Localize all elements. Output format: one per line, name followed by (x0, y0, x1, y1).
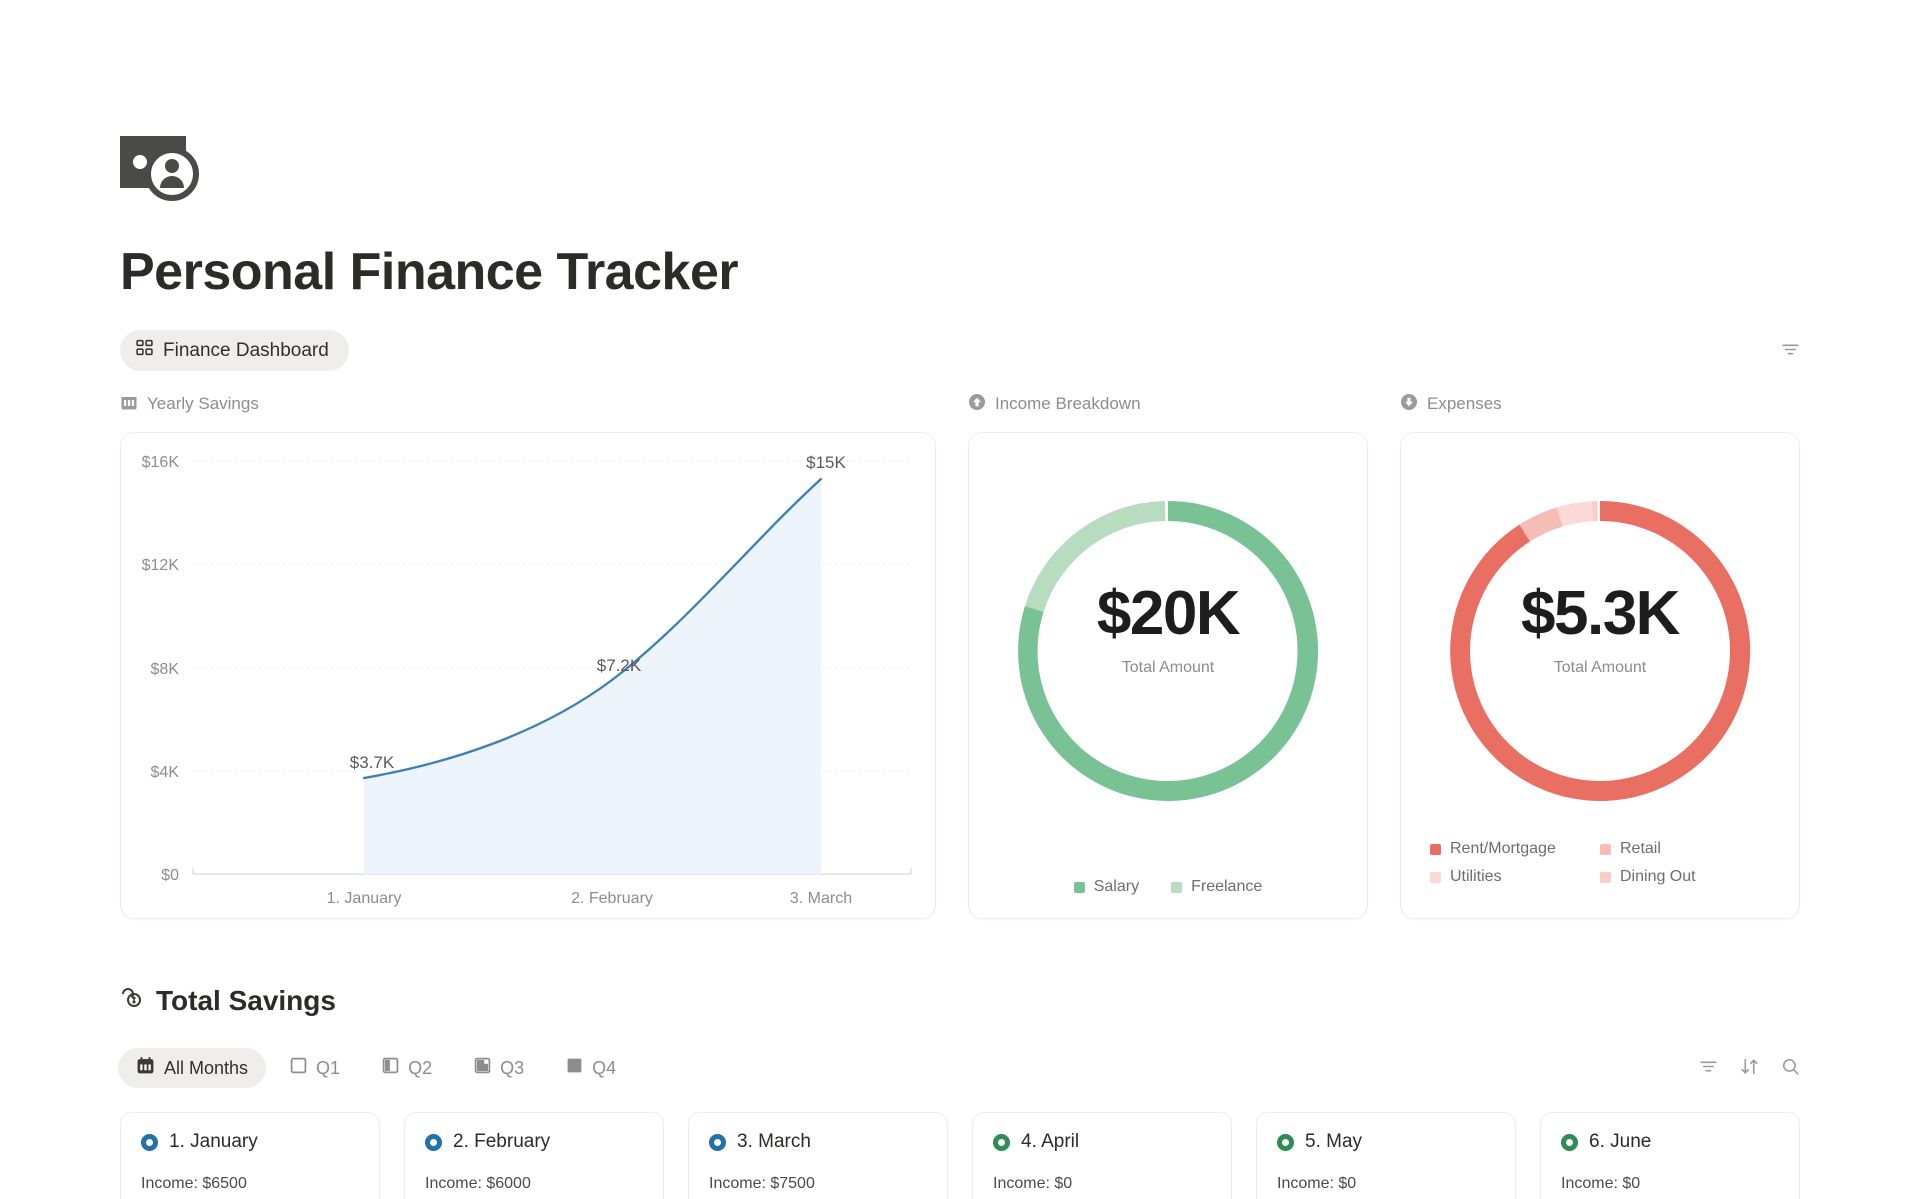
quarter-4-icon (566, 1057, 583, 1079)
legend-swatch (1430, 844, 1441, 855)
legend-item: Dining Out (1600, 868, 1770, 886)
legend-label: Utilities (1450, 868, 1502, 886)
month-card-february[interactable]: 2. February Income: $6000 (404, 1112, 664, 1199)
section-title-label: Total Savings (156, 985, 336, 1017)
panel-title: Income Breakdown (995, 394, 1141, 414)
legend-label: Rent/Mortgage (1450, 840, 1556, 858)
status-ring-icon (1561, 1134, 1578, 1151)
panel-title: Yearly Savings (147, 394, 259, 414)
month-income: Income: $7500 (709, 1175, 927, 1193)
legend-item: Freelance (1171, 878, 1262, 896)
tab-label: Q3 (500, 1058, 524, 1079)
calendar-icon (136, 1056, 155, 1080)
total-savings-title: Total Savings (120, 985, 336, 1017)
top-toolbar (1781, 340, 1800, 359)
legend-label: Salary (1094, 878, 1139, 896)
panel-income-breakdown: Income Breakdown $20K Total Amount (968, 392, 1368, 919)
svg-text:$7.2K: $7.2K (597, 656, 642, 675)
month-name: 5. May (1305, 1131, 1362, 1153)
tab-label: Q2 (408, 1058, 432, 1079)
expenses-donut-card: $5.3K Total Amount Rent/Mortgage Retail … (1400, 432, 1800, 919)
arrow-up-circle-icon (968, 393, 986, 416)
month-card-january[interactable]: 1. January Income: $6500 (120, 1112, 380, 1199)
month-cards-grid: 1. January Income: $6500 2. February Inc… (120, 1112, 1800, 1199)
legend-swatch (1430, 872, 1441, 883)
panel-header: Income Breakdown (968, 392, 1368, 416)
month-name: 6. June (1589, 1131, 1651, 1153)
month-card-title: 2. February (425, 1131, 643, 1153)
svg-text:$8K: $8K (151, 661, 180, 678)
svg-text:$3.7K: $3.7K (350, 753, 395, 772)
panel-header: Expenses (1400, 392, 1800, 416)
panel-yearly-savings: Yearly Savings (120, 392, 936, 919)
month-name: 1. January (169, 1131, 258, 1153)
filter-icon[interactable] (1781, 340, 1800, 359)
status-ring-icon (709, 1134, 726, 1151)
tab-all-months[interactable]: All Months (118, 1048, 266, 1088)
month-card-march[interactable]: 3. March Income: $7500 (688, 1112, 948, 1199)
yearly-savings-chart-card: $16K $12K $8K $4K $0 $3.7K $7.2K $15K 1.… (120, 432, 936, 919)
month-card-june[interactable]: 6. June Income: $0 (1540, 1112, 1800, 1199)
calendar-icon (120, 393, 138, 416)
filter-icon[interactable] (1699, 1057, 1718, 1076)
layout-grid-icon (136, 339, 153, 362)
month-filter-tabs: All Months Q1 Q2 (118, 1048, 634, 1088)
income-donut-card: $20K Total Amount Salary Freelance (968, 432, 1368, 919)
month-card-title: 3. March (709, 1131, 927, 1153)
status-ring-icon (141, 1134, 158, 1151)
svg-text:$12K: $12K (142, 557, 180, 574)
month-card-title: 6. June (1561, 1131, 1779, 1153)
line-chart: $16K $12K $8K $4K $0 $3.7K $7.2K $15K 1.… (121, 433, 951, 920)
panel-expenses: Expenses $5.3K (1400, 392, 1800, 919)
svg-text:$15K: $15K (806, 453, 846, 472)
legend-item: Rent/Mortgage (1430, 840, 1600, 858)
month-income: Income: $0 (1561, 1175, 1779, 1193)
legend-item: Retail (1600, 840, 1770, 858)
tab-q1[interactable]: Q1 (272, 1049, 358, 1087)
tab-label: All Months (164, 1058, 248, 1079)
coins-icon (120, 985, 144, 1017)
search-icon[interactable] (1781, 1057, 1800, 1076)
tab-label: Q1 (316, 1058, 340, 1079)
month-card-april[interactable]: 4. April Income: $0 (972, 1112, 1232, 1199)
month-card-title: 4. April (993, 1131, 1211, 1153)
month-name: 2. February (453, 1131, 550, 1153)
page-title: Personal Finance Tracker (120, 245, 738, 300)
legend-swatch (1171, 882, 1182, 893)
svg-text:$0: $0 (161, 867, 179, 884)
tab-finance-dashboard[interactable]: Finance Dashboard (120, 330, 349, 371)
month-income: Income: $6000 (425, 1175, 643, 1193)
quarter-3-icon (474, 1057, 491, 1079)
svg-text:$16K: $16K (142, 454, 180, 471)
legend-item: Utilities (1430, 868, 1600, 886)
month-income: Income: $0 (993, 1175, 1211, 1193)
tab-q2[interactable]: Q2 (364, 1049, 450, 1087)
dashboard-grid: Yearly Savings (120, 392, 1800, 919)
tab-q3[interactable]: Q3 (456, 1049, 542, 1087)
svg-text:1. January: 1. January (327, 890, 402, 907)
tab-label: Q4 (592, 1058, 616, 1079)
expenses-legend: Rent/Mortgage Retail Utilities Dining Ou… (1430, 840, 1770, 896)
month-name: 4. April (1021, 1131, 1079, 1153)
status-ring-icon (1277, 1134, 1294, 1151)
legend-label: Dining Out (1620, 868, 1696, 886)
savings-toolbar (1699, 1057, 1800, 1076)
dashboard-tab-row: Finance Dashboard (120, 330, 349, 371)
svg-text:$4K: $4K (151, 764, 180, 781)
income-legend: Salary Freelance (969, 878, 1367, 896)
month-income: Income: $0 (1277, 1175, 1495, 1193)
app-logo (120, 132, 224, 202)
legend-label: Retail (1620, 840, 1661, 858)
tab-label: Finance Dashboard (163, 340, 329, 362)
status-ring-icon (425, 1134, 442, 1151)
legend-label: Freelance (1191, 878, 1262, 896)
panel-header: Yearly Savings (120, 392, 936, 416)
quarter-2-icon (382, 1057, 399, 1079)
month-card-may[interactable]: 5. May Income: $0 (1256, 1112, 1516, 1199)
sort-icon[interactable] (1740, 1057, 1759, 1076)
legend-item: Salary (1074, 878, 1139, 896)
page-root: Personal Finance Tracker Finance Dashboa… (0, 0, 1920, 1199)
tab-q4[interactable]: Q4 (548, 1049, 634, 1087)
month-income: Income: $6500 (141, 1175, 359, 1193)
legend-swatch (1074, 882, 1085, 893)
money-coin-icon (120, 132, 224, 202)
status-ring-icon (993, 1134, 1010, 1151)
expenses-donut-chart (1400, 451, 1800, 851)
quarter-1-icon (290, 1057, 307, 1079)
svg-text:2. February: 2. February (571, 890, 653, 907)
legend-swatch (1600, 872, 1611, 883)
panel-title: Expenses (1427, 394, 1502, 414)
month-card-title: 5. May (1277, 1131, 1495, 1153)
month-card-title: 1. January (141, 1131, 359, 1153)
arrow-down-circle-icon (1400, 393, 1418, 416)
svg-text:3. March: 3. March (790, 890, 852, 907)
month-name: 3. March (737, 1131, 811, 1153)
legend-swatch (1600, 844, 1611, 855)
income-donut-chart (968, 451, 1368, 851)
